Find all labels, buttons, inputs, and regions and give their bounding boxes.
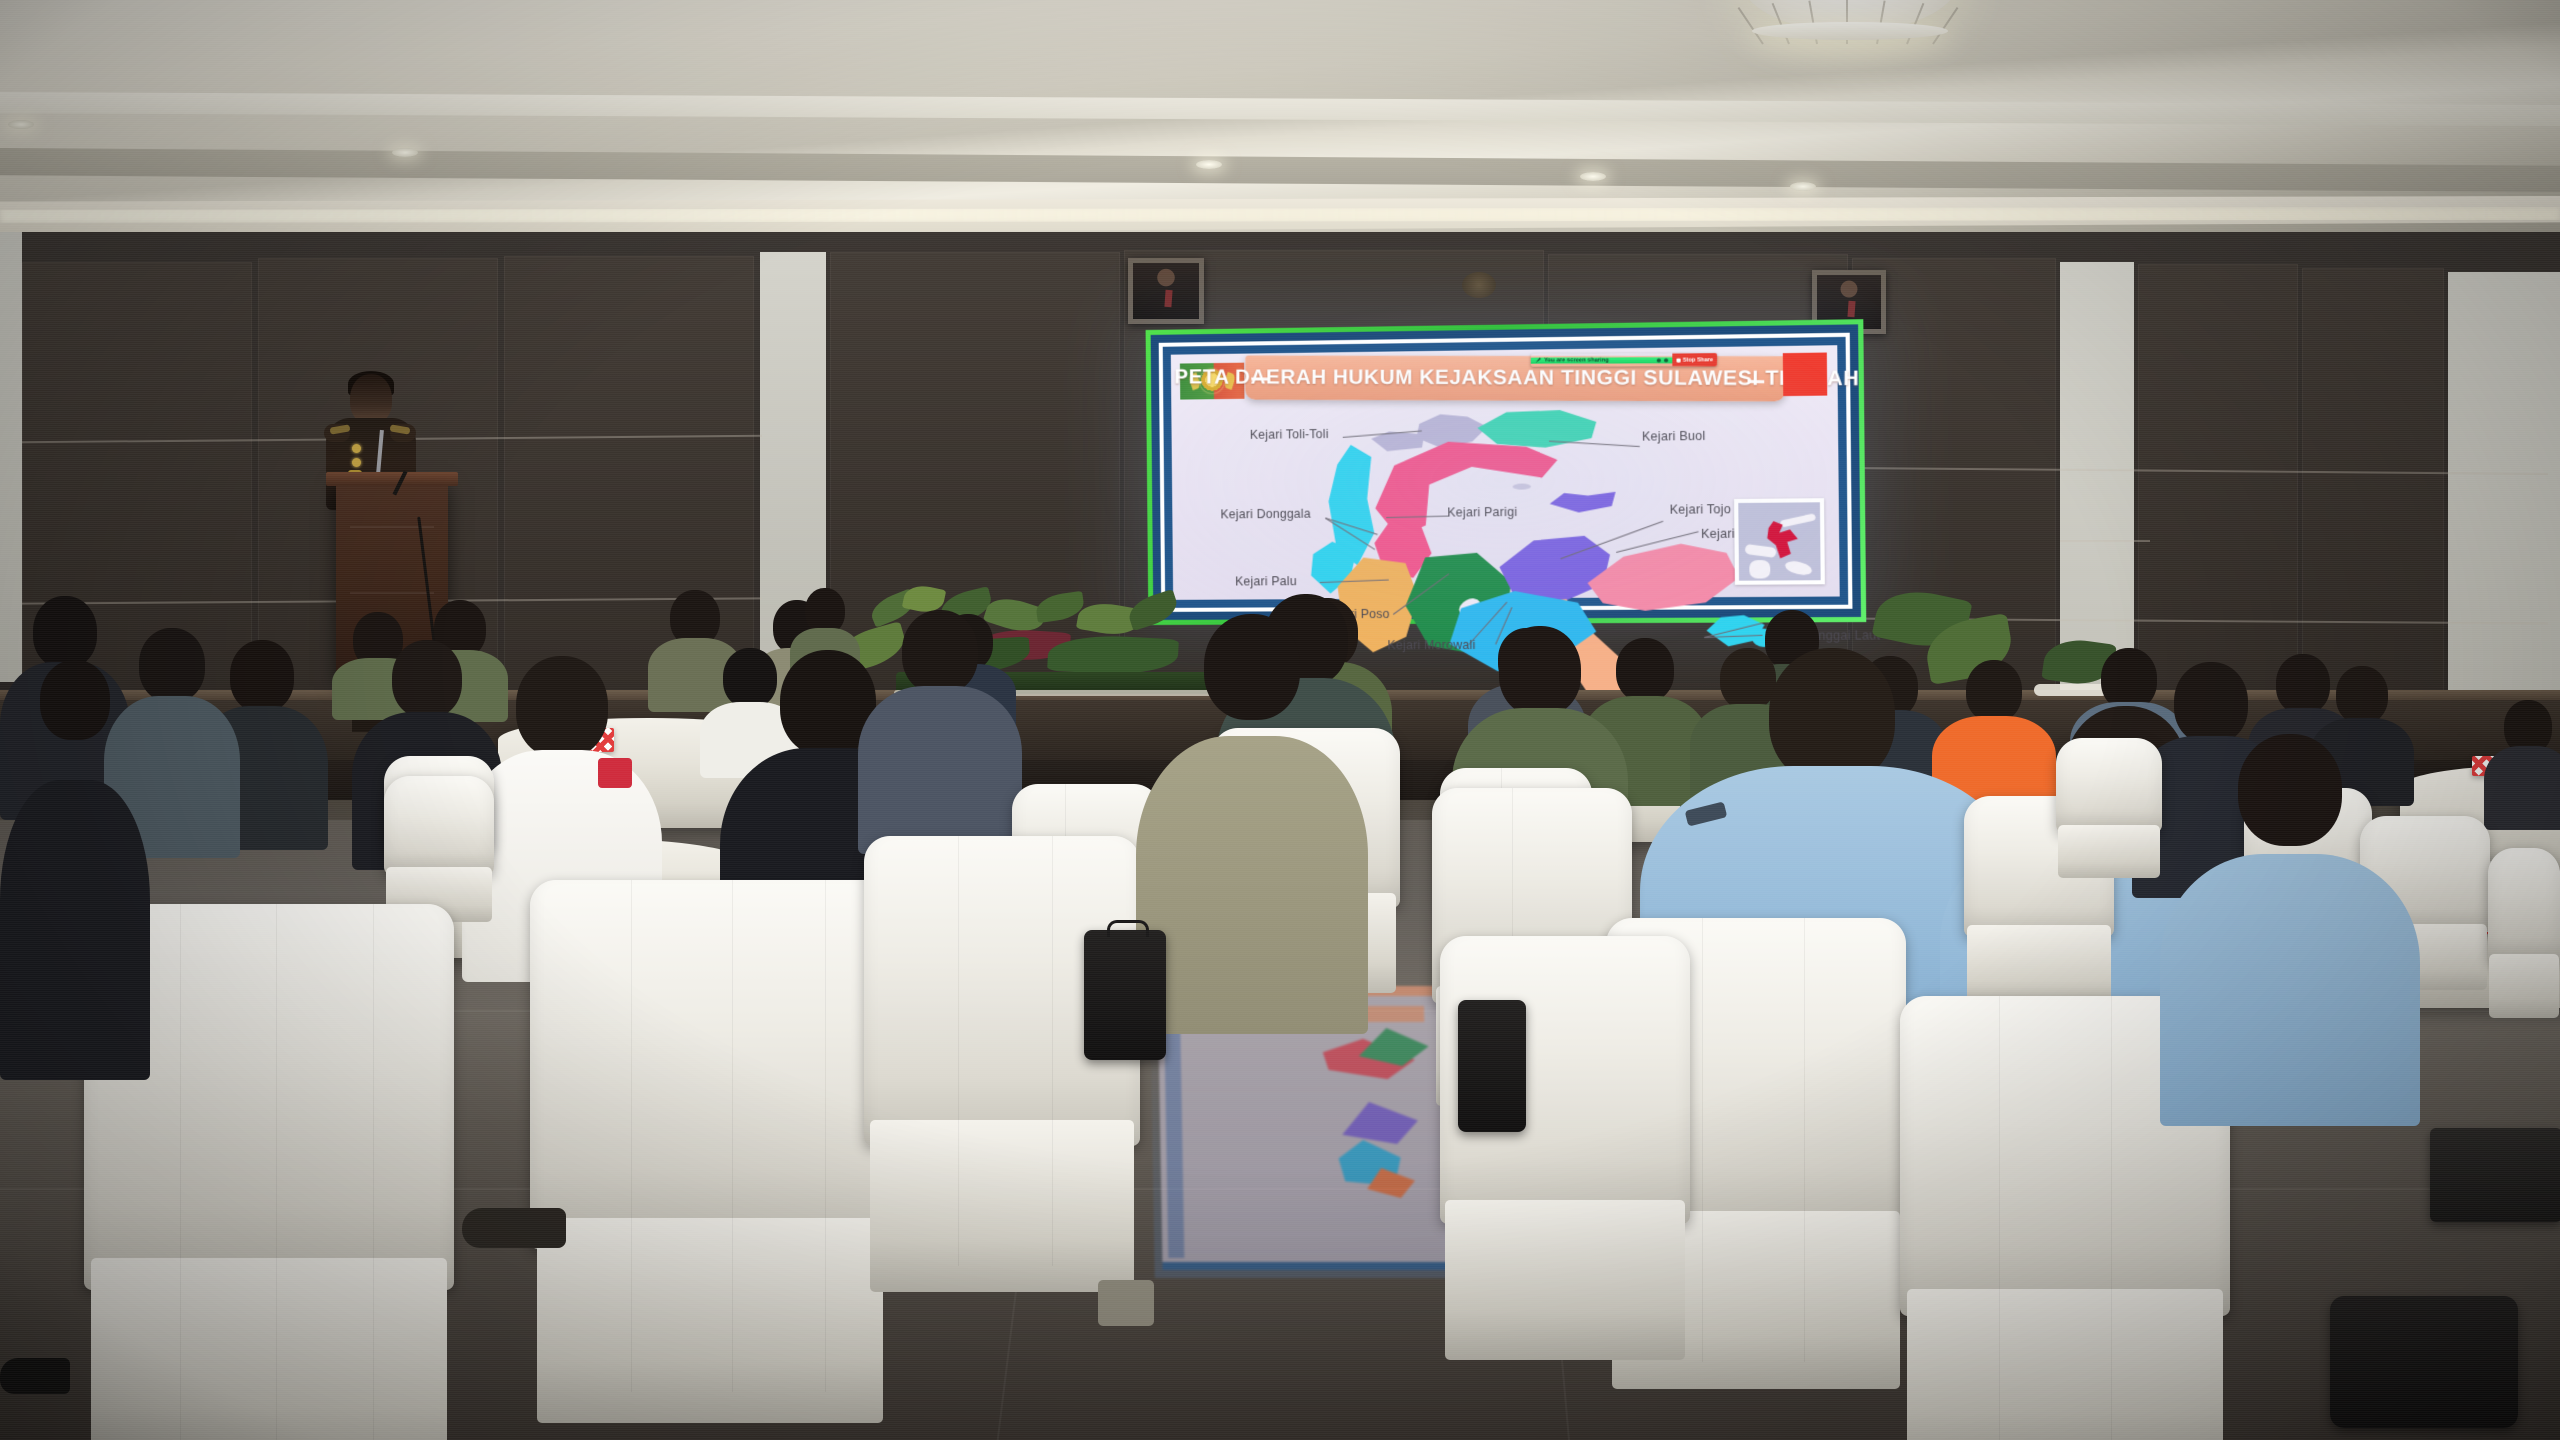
inset-island: [1744, 544, 1776, 558]
stop-share-button[interactable]: Stop Share: [1672, 353, 1717, 366]
inset-island: [1780, 513, 1816, 528]
official-portrait-left: [1128, 258, 1204, 324]
map-label-donggala[interactable]: Kejari Donggala: [1220, 507, 1311, 522]
slide-canvas: PETA DAERAH HUKUM KEJAKSAAN TINGGI SULAW…: [1171, 345, 1840, 600]
medal-icon: [352, 458, 361, 467]
share-arrow-icon: [1535, 357, 1541, 363]
ceiling-cove-band-1: [0, 92, 2560, 126]
stop-square-icon: [1676, 358, 1680, 362]
downlight-icon: [1196, 160, 1222, 169]
briefcase[interactable]: [2430, 1128, 2560, 1222]
share-status-area: You are screen sharing: [1531, 357, 1672, 363]
island-speck: [1513, 483, 1532, 489]
share-status-text: You are screen sharing: [1544, 357, 1609, 363]
chair[interactable]: [384, 776, 494, 914]
presenter-head: [350, 374, 392, 424]
backpack[interactable]: [1458, 1000, 1526, 1132]
inset-island: [1784, 559, 1813, 577]
medal-icon: [352, 444, 361, 453]
title-dash-right: [1748, 380, 1765, 383]
share-controls[interactable]: [1657, 358, 1668, 362]
attendee-tan-uniform: [1136, 614, 1368, 1034]
geometric-pendant-lamp: [1740, 0, 1960, 50]
wall-medallion: [1462, 272, 1496, 298]
chair-front[interactable]: [530, 880, 890, 1392]
downlight-icon: [8, 120, 34, 129]
screen-share-banner[interactable]: You are screen sharing Stop Share: [1531, 353, 1717, 367]
ceiling-cove-band-2: [0, 148, 2560, 192]
share-settings-icon[interactable]: [1664, 358, 1668, 362]
screenshot-root: PETA DAERAH HUKUM KEJAKSAAN TINGGI SULAW…: [0, 0, 2560, 1440]
share-audio-icon[interactable]: [1657, 358, 1661, 362]
wall-light-column-b: [2060, 262, 2134, 692]
podium-top: [326, 472, 458, 486]
attendee: [858, 610, 1022, 854]
attendee-front-right: [2160, 734, 2420, 1126]
shoe: [0, 1358, 70, 1394]
attendee: [2484, 700, 2560, 830]
wall-light-column-c: [2448, 272, 2560, 692]
wall-reveal-line: [2060, 540, 2150, 542]
downlight-icon: [1580, 172, 1606, 181]
wall-panel: [2302, 268, 2444, 696]
shoe: [462, 1208, 566, 1248]
chair[interactable]: [2488, 848, 2560, 1008]
map-label-buol[interactable]: Kejari Buol: [1642, 429, 1706, 444]
bag-handle[interactable]: [1107, 920, 1149, 937]
red-tie: [598, 758, 632, 788]
portrait-tie: [1847, 301, 1855, 318]
sulawesi-map: Kejari Toli-Toli Kejari Buol Kejari Dong…: [1171, 394, 1839, 599]
map-label-parigi[interactable]: Kejari Parigi: [1447, 505, 1517, 520]
backpack[interactable]: [1084, 930, 1166, 1060]
title-dash-left: [1251, 377, 1267, 380]
slide-title: PETA DAERAH HUKUM KEJAKSAAN TINGGI SULAW…: [1174, 365, 1859, 391]
indonesia-locator-inset[interactable]: [1734, 498, 1825, 585]
portrait-tie: [1164, 290, 1172, 307]
inset-island: [1749, 560, 1770, 579]
pendant-rim: [1752, 22, 1948, 40]
stop-share-label: Stop Share: [1683, 357, 1713, 363]
attendee-front-left: [0, 660, 150, 1080]
floor-object: [1098, 1280, 1154, 1326]
chair-front[interactable]: [1440, 936, 1690, 1336]
wall-panel: [2138, 264, 2298, 696]
backpack[interactable]: [2330, 1296, 2518, 1428]
region-tojo-islands[interactable]: [1550, 491, 1616, 514]
projection-screen[interactable]: PETA DAERAH HUKUM KEJAKSAAN TINGGI SULAW…: [1146, 319, 1867, 625]
chair[interactable]: [2056, 738, 2162, 870]
downlight-icon: [392, 148, 418, 157]
downlight-icon: [1790, 182, 1816, 191]
slide-red-accent-block: [1783, 353, 1827, 397]
map-label-toli-toli[interactable]: Kejari Toli-Toli: [1250, 427, 1329, 442]
inset-sea: [1738, 502, 1820, 580]
